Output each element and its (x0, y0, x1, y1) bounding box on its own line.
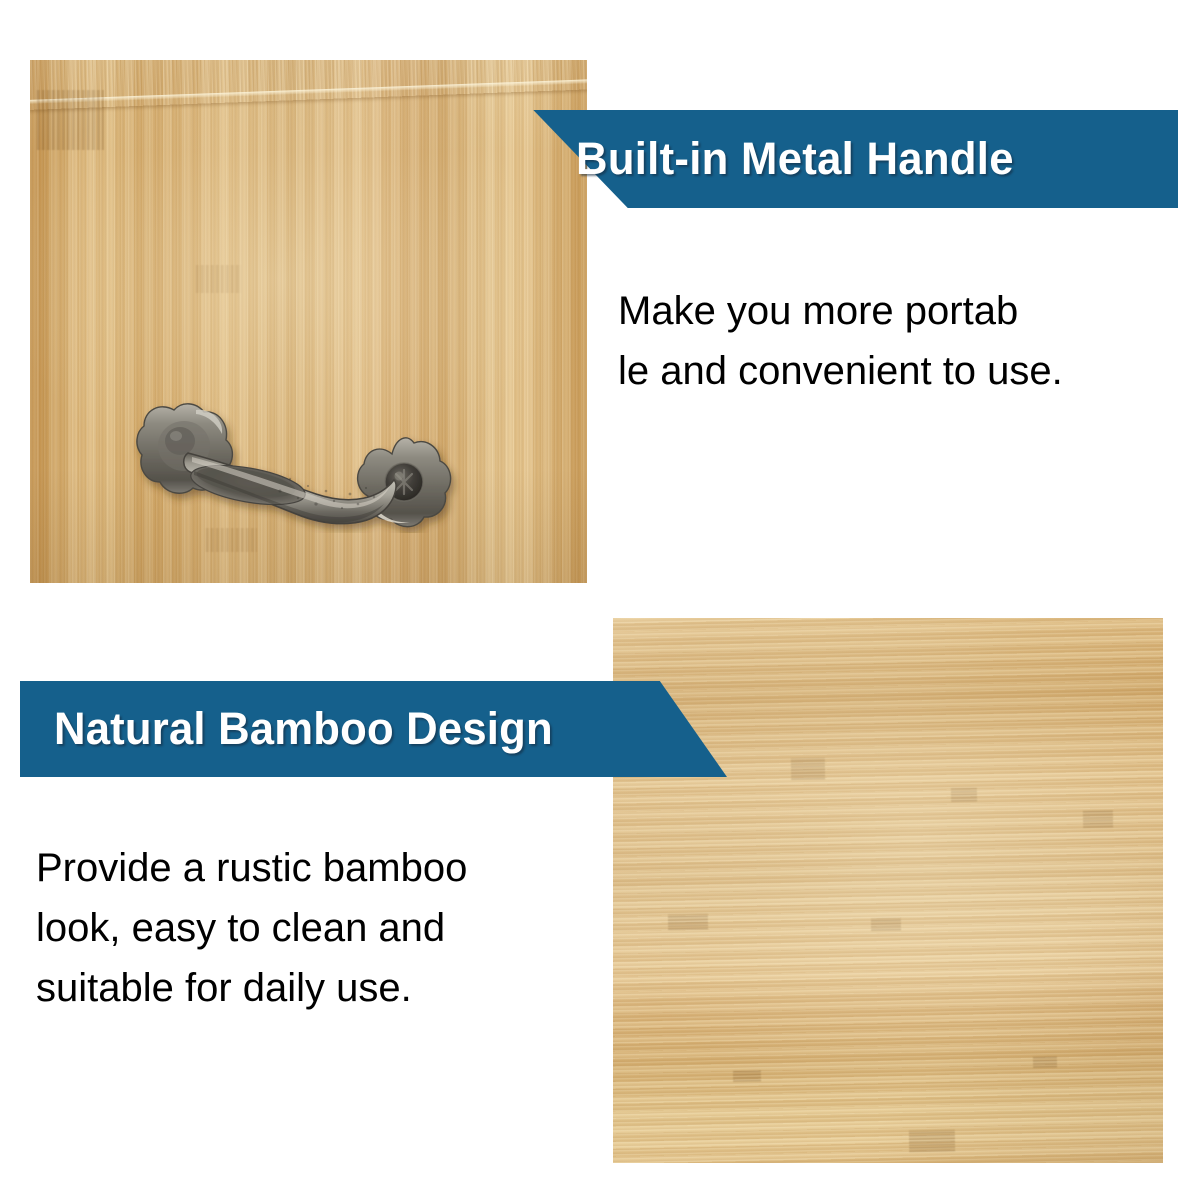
feature-banner-title: Built-in Metal Handle (576, 110, 1137, 208)
feature-banner-natural-bamboo-design: Natural Bamboo Design (20, 681, 727, 777)
feature-banner-built-in-metal-handle: Built-in Metal Handle (468, 110, 1178, 208)
feature-description-bamboo-design: Provide a rustic bamboo look, easy to cl… (36, 838, 596, 1018)
feature-description-metal-handle: Make you more portab le and convenient t… (618, 281, 1178, 401)
infographic-canvas: Built-in Metal Handle Make you more port… (0, 0, 1200, 1200)
feature-banner-title: Natural Bamboo Design (54, 681, 553, 777)
metal-handle-icon (130, 358, 470, 533)
